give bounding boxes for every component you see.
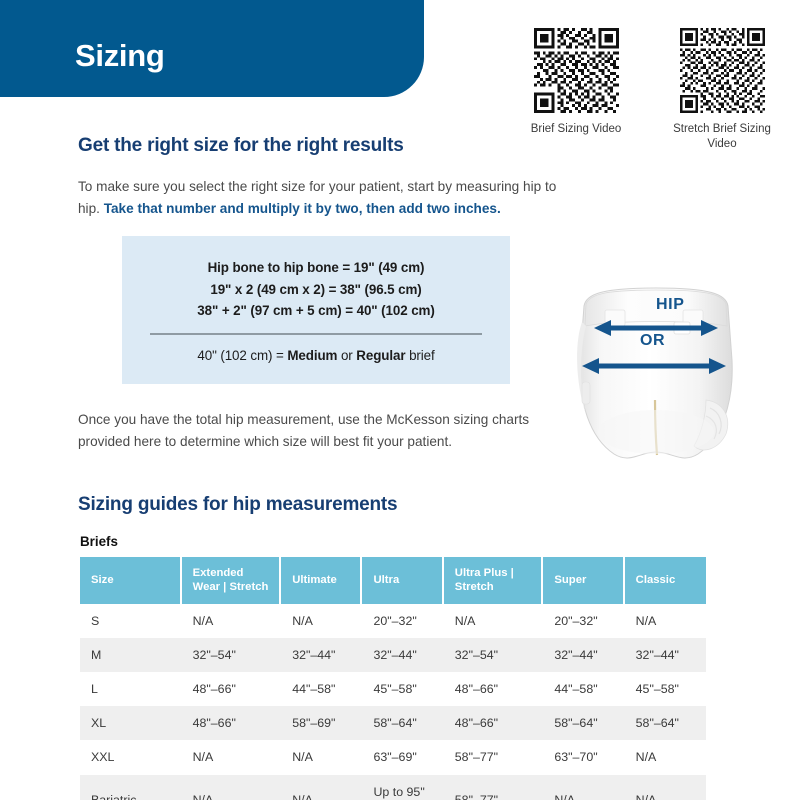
cell-ultra: 20"–32" (362, 604, 443, 638)
qr-code-icon (534, 28, 619, 113)
qr-caption: Brief Sizing Video (531, 122, 622, 137)
calc-result-suffix: brief (405, 348, 434, 363)
calc-result-prefix: 40" (102 cm) = (197, 348, 287, 363)
table-label-briefs: Briefs (80, 534, 118, 549)
cell-ultra: 63"–69" (362, 740, 443, 774)
cell-super: 63"–70" (543, 740, 624, 774)
cell-size: XXL (80, 740, 182, 774)
cell-classic: N/A (625, 604, 706, 638)
section-heading-sizing-guides: Sizing guides for hip measurements (78, 494, 397, 516)
cell-ultimate: N/A (281, 775, 362, 800)
measurement-label-hip: HIP (656, 296, 684, 314)
cell-classic: N/A (625, 775, 706, 800)
measurement-label-or: OR (640, 332, 665, 350)
table-header-row: Size Extended Wear | Stretch Ultimate Ul… (80, 557, 706, 604)
column-header-ultimate: Ultimate (281, 557, 362, 604)
calculation-box: Hip bone to hip bone = 19" (49 cm) 19" x… (122, 236, 510, 384)
qr-block-brief-sizing[interactable]: Brief Sizing Video (512, 28, 640, 152)
column-header-ultra: Ultra (362, 557, 443, 604)
sizing-page: Sizing (0, 0, 800, 800)
table-head: Size Extended Wear | Stretch Ultimate Ul… (80, 557, 706, 604)
qr-code-group: Brief Sizing Video (512, 28, 792, 152)
calc-result-size-regular: Regular (356, 348, 405, 363)
cell-super: 20"–32" (543, 604, 624, 638)
header-banner (0, 0, 424, 97)
calc-result-conjunction: or (337, 348, 356, 363)
page-title: Sizing (75, 38, 164, 74)
cell-ultra-plus: 58"–77" (444, 775, 544, 800)
cell-size: XL (80, 706, 182, 740)
cell-classic: 58"–64" (625, 706, 706, 740)
cell-size: Bariatric (80, 775, 182, 800)
qr-code-icon (680, 28, 765, 113)
product-illustration: HIP OR (556, 282, 756, 478)
calc-line-2: 19" x 2 (49 cm x 2) = 38" (96.5 cm) (122, 279, 510, 301)
table-row: L 48"–66" 44"–58" 45"–58" 48"–66" 44"–58… (80, 672, 706, 706)
cell-ultra-plus: 58"–77" (444, 740, 544, 774)
briefs-sizing-table: Size Extended Wear | Stretch Ultimate Ul… (80, 557, 706, 800)
table-row: XL 48"–66" 58"–69" 58"–64" 48"–66" 58"–6… (80, 706, 706, 740)
cell-ultra-plus: 48"–66" (444, 706, 544, 740)
table-row: M 32"–54" 32"–44" 32"–44" 32"–54" 32"–44… (80, 638, 706, 672)
cell-super: N/A (543, 775, 624, 800)
column-header-super: Super (543, 557, 624, 604)
cell-classic: 45"–58" (625, 672, 706, 706)
cell-super: 32"–44" (543, 638, 624, 672)
intro-text-bold: Take that number and multiply it by two,… (104, 201, 501, 216)
cell-ultra: 45"–58" (362, 672, 443, 706)
cell-super: 58"–64" (543, 706, 624, 740)
cell-extended-wear: N/A (182, 775, 282, 800)
cell-ultra-plus: 48"–66" (444, 672, 544, 706)
table-row: S N/A N/A 20"–32" N/A 20"–32" N/A (80, 604, 706, 638)
calc-divider (150, 333, 482, 335)
cell-extended-wear: 32"–54" (182, 638, 282, 672)
qr-caption: Stretch Brief Sizing Video (658, 122, 786, 152)
column-header-size: Size (80, 557, 182, 604)
cell-ultra-plus: N/A (444, 604, 544, 638)
cell-classic: N/A (625, 740, 706, 774)
cell-size: M (80, 638, 182, 672)
cell-ultra: Up to 95" Waist (362, 775, 443, 800)
table-body: S N/A N/A 20"–32" N/A 20"–32" N/A M 32"–… (80, 604, 706, 800)
cell-extended-wear: N/A (182, 740, 282, 774)
cell-ultimate: 32"–44" (281, 638, 362, 672)
column-header-extended-wear-stretch: Extended Wear | Stretch (182, 557, 282, 604)
cell-extended-wear: 48"–66" (182, 706, 282, 740)
cell-ultimate: 44"–58" (281, 672, 362, 706)
table-row: XXL N/A N/A 63"–69" 58"–77" 63"–70" N/A (80, 740, 706, 774)
column-header-ultra-plus-stretch: Ultra Plus | Stretch (444, 557, 544, 604)
cell-ultra: 32"–44" (362, 638, 443, 672)
calc-result: 40" (102 cm) = Medium or Regular brief (122, 348, 510, 363)
cell-size: L (80, 672, 182, 706)
paragraph-sizing-charts: Once you have the total hip measurement,… (78, 409, 558, 453)
qr-block-stretch-brief-sizing[interactable]: Stretch Brief Sizing Video (658, 28, 786, 152)
column-header-classic: Classic (625, 557, 706, 604)
cell-ultra-plus: 32"–54" (444, 638, 544, 672)
section-heading-right-size: Get the right size for the right results (78, 135, 404, 157)
cell-extended-wear: 48"–66" (182, 672, 282, 706)
table-row: Bariatric N/A N/A Up to 95" Waist 58"–77… (80, 775, 706, 800)
calc-line-3: 38" + 2" (97 cm + 5 cm) = 40" (102 cm) (122, 300, 510, 322)
intro-paragraph: To make sure you select the right size f… (78, 176, 578, 220)
calc-line-1: Hip bone to hip bone = 19" (49 cm) (122, 257, 510, 279)
cell-classic: 32"–44" (625, 638, 706, 672)
cell-ultimate: N/A (281, 740, 362, 774)
cell-super: 44"–58" (543, 672, 624, 706)
cell-extended-wear: N/A (182, 604, 282, 638)
cell-size: S (80, 604, 182, 638)
calc-result-size-medium: Medium (287, 348, 337, 363)
cell-ultimate: 58"–69" (281, 706, 362, 740)
cell-ultimate: N/A (281, 604, 362, 638)
cell-ultra: 58"–64" (362, 706, 443, 740)
